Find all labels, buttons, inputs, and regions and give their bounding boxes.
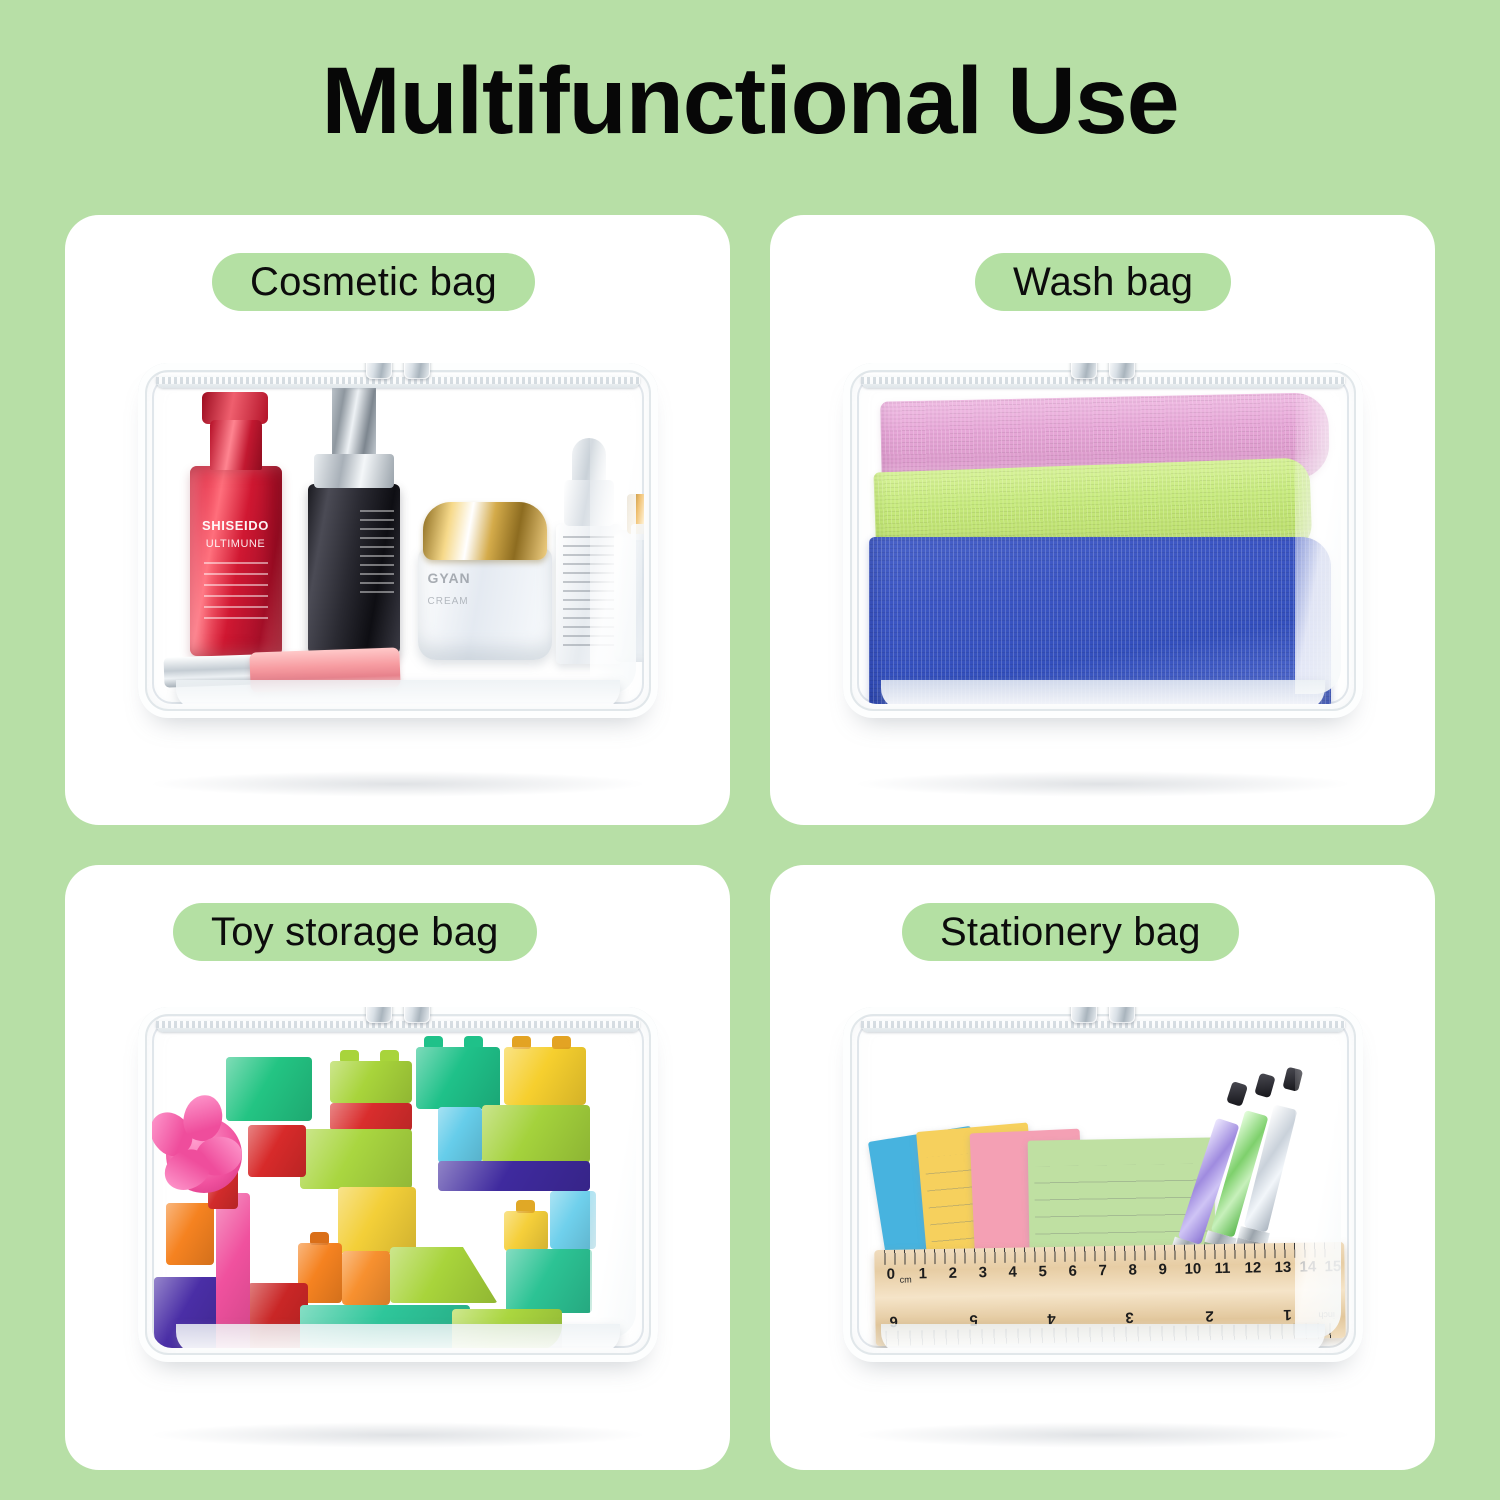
label-text-lines — [360, 510, 394, 596]
card-cosmetic-bag[interactable]: Cosmetic bag SHISEIDO ULTIMUNE — [65, 215, 730, 825]
ruler-cm-mark: 3 — [978, 1264, 987, 1281]
ruler-cm-mark: 10 — [1184, 1260, 1201, 1277]
pouch-base — [176, 680, 620, 704]
pouch-interior: 0 cm 1 2 3 4 5 6 7 8 9 10 11 12 — [857, 1021, 1349, 1348]
pen-tip — [1254, 1073, 1275, 1099]
page-title: Multifunctional Use — [0, 52, 1500, 152]
pouch-shadow — [148, 1422, 648, 1448]
zipper-teeth — [156, 377, 640, 384]
block-stud — [380, 1050, 399, 1063]
ruler-inch-mark: 1 — [1283, 1306, 1292, 1323]
block-lime-wedge — [390, 1247, 498, 1303]
block-stud — [464, 1036, 483, 1049]
item-serum-bottle-dark — [308, 484, 400, 654]
label-sub: ULTIMUNE — [190, 538, 282, 550]
pouch-interior — [152, 1021, 644, 1348]
zipper-pull-left-icon[interactable] — [1071, 363, 1097, 379]
item-serum-bottle-red: SHISEIDO ULTIMUNE — [190, 466, 282, 656]
zipper-track — [861, 373, 1345, 388]
block-lime-wide — [482, 1105, 590, 1163]
clear-pouch — [843, 363, 1363, 718]
block-stud — [552, 1036, 571, 1049]
ruler-cm-mark: 12 — [1244, 1259, 1261, 1276]
block-cyan-right — [550, 1191, 596, 1249]
block-stud — [310, 1232, 329, 1245]
jar-brand: GYAN — [428, 570, 471, 586]
feature-cards-grid: Cosmetic bag SHISEIDO ULTIMUNE — [65, 215, 1435, 1455]
zipper-teeth — [861, 377, 1345, 384]
block-stud — [512, 1036, 531, 1049]
label-text-lines — [204, 562, 268, 626]
zipper-teeth — [861, 1021, 1345, 1028]
clear-pouch: 0 cm 1 2 3 4 5 6 7 8 9 10 11 12 — [843, 1007, 1363, 1362]
toy-flower-icon — [166, 1117, 242, 1193]
pouch-shadow — [148, 771, 648, 797]
ruler-inch-mark: 2 — [1205, 1307, 1214, 1324]
card-wash-bag[interactable]: Wash bag — [770, 215, 1435, 825]
card-stationery-bag[interactable]: Stationery bag — [770, 865, 1435, 1470]
block-lime-mid — [300, 1129, 412, 1189]
block-red-mid — [248, 1125, 306, 1177]
bottle-neck — [631, 524, 644, 540]
clear-pouch: SHISEIDO ULTIMUNE GYAN CREAM — [138, 363, 658, 718]
ruler-inch-unit-label: inch — [1318, 1310, 1335, 1320]
zipper-pull-right-icon[interactable] — [1109, 1007, 1135, 1023]
pen-tip — [1282, 1067, 1303, 1092]
dropper-cap — [564, 480, 614, 526]
ruler-cm-mark: 7 — [1098, 1262, 1107, 1279]
block-teal-wide — [416, 1047, 500, 1109]
zipper-pull-right-icon[interactable] — [404, 363, 430, 379]
photo-stationery-bag: 0 cm 1 2 3 4 5 6 7 8 9 10 11 12 — [770, 985, 1435, 1470]
block-red-small — [330, 1103, 412, 1131]
ruler-cm-mark: 15 — [1324, 1258, 1341, 1275]
block-stud — [516, 1200, 535, 1213]
zipper-pull-left-icon[interactable] — [366, 1007, 392, 1023]
card-toy-storage-bag[interactable]: Toy storage bag — [65, 865, 730, 1470]
pouch-interior: SHISEIDO ULTIMUNE GYAN CREAM — [152, 377, 644, 704]
zipper-teeth — [156, 1021, 640, 1028]
block-purple-bar — [438, 1161, 590, 1191]
block-yellow-mid — [338, 1187, 416, 1253]
block-stud — [424, 1036, 443, 1049]
item-dropper-bottle — [556, 524, 622, 664]
label-brand: SHISEIDO — [190, 518, 282, 533]
zipper-track — [861, 1017, 1345, 1032]
pouch-highlight — [590, 1027, 636, 1338]
card-label-toy-storage-bag: Toy storage bag — [173, 903, 537, 961]
dropper-bulb — [572, 438, 606, 484]
block-yellow-stud — [504, 1211, 548, 1251]
jar-lid-gold — [423, 502, 547, 560]
block-teal-right — [506, 1249, 592, 1313]
ruler-cm-mark: 8 — [1128, 1262, 1137, 1279]
ruler-cm-unit-label: cm — [899, 1274, 911, 1284]
ruler-cm-mark: 14 — [1299, 1258, 1316, 1275]
clear-pouch — [138, 1007, 658, 1362]
photo-toy-storage-bag — [65, 985, 730, 1470]
block-yellow-top — [504, 1047, 586, 1105]
pouch-base — [881, 1324, 1325, 1348]
card-label-stationery-bag: Stationery bag — [902, 903, 1239, 961]
label-text-lines — [563, 536, 615, 648]
bottle-cap-silver — [314, 454, 394, 488]
bottle-applicator — [332, 377, 376, 460]
ruler-cm-mark: 13 — [1274, 1259, 1291, 1276]
item-towel-blue — [869, 537, 1331, 704]
ruler-cm-mark: 1 — [918, 1265, 927, 1282]
ruler-cm-mark: 6 — [1068, 1263, 1077, 1280]
block-stud — [340, 1050, 359, 1063]
card-label-cosmetic-bag: Cosmetic bag — [212, 253, 535, 311]
ruler-cm-mark: 11 — [1214, 1260, 1230, 1277]
ruler-cm-mark: 4 — [1008, 1264, 1017, 1281]
card-label-wash-bag: Wash bag — [975, 253, 1231, 311]
photo-cosmetic-bag: SHISEIDO ULTIMUNE GYAN CREAM — [65, 335, 730, 825]
pouch-base — [881, 680, 1325, 704]
block-green-large — [226, 1057, 312, 1121]
pouch-shadow — [853, 771, 1353, 797]
ruler-cm-mark: 5 — [1038, 1263, 1047, 1280]
zipper-track — [156, 373, 640, 388]
jar-sub: CREAM — [428, 596, 469, 607]
block-lime-studs — [330, 1061, 412, 1103]
zipper-track — [156, 1017, 640, 1032]
block-cyan — [438, 1107, 482, 1163]
pouch-shadow — [853, 1422, 1353, 1448]
ruler-cm-mark: 0 — [886, 1266, 895, 1283]
zipper-pull-left-icon[interactable] — [366, 363, 392, 379]
zipper-pull-right-icon[interactable] — [1109, 363, 1135, 379]
pouch-interior — [857, 377, 1349, 704]
ruler-cm-mark: 9 — [1158, 1261, 1167, 1278]
item-clear-bottle — [614, 530, 644, 662]
ruler-cm-mark: 2 — [948, 1265, 957, 1282]
bottle-neck — [210, 420, 262, 470]
pouch-base — [176, 1324, 620, 1348]
photo-wash-bag — [770, 335, 1435, 825]
block-orange-left — [166, 1203, 214, 1265]
item-cream-jar: GYAN CREAM — [418, 548, 552, 660]
block-orange-2 — [342, 1251, 390, 1305]
zipper-pull-right-icon[interactable] — [404, 1007, 430, 1023]
zipper-pull-left-icon[interactable] — [1071, 1007, 1097, 1023]
